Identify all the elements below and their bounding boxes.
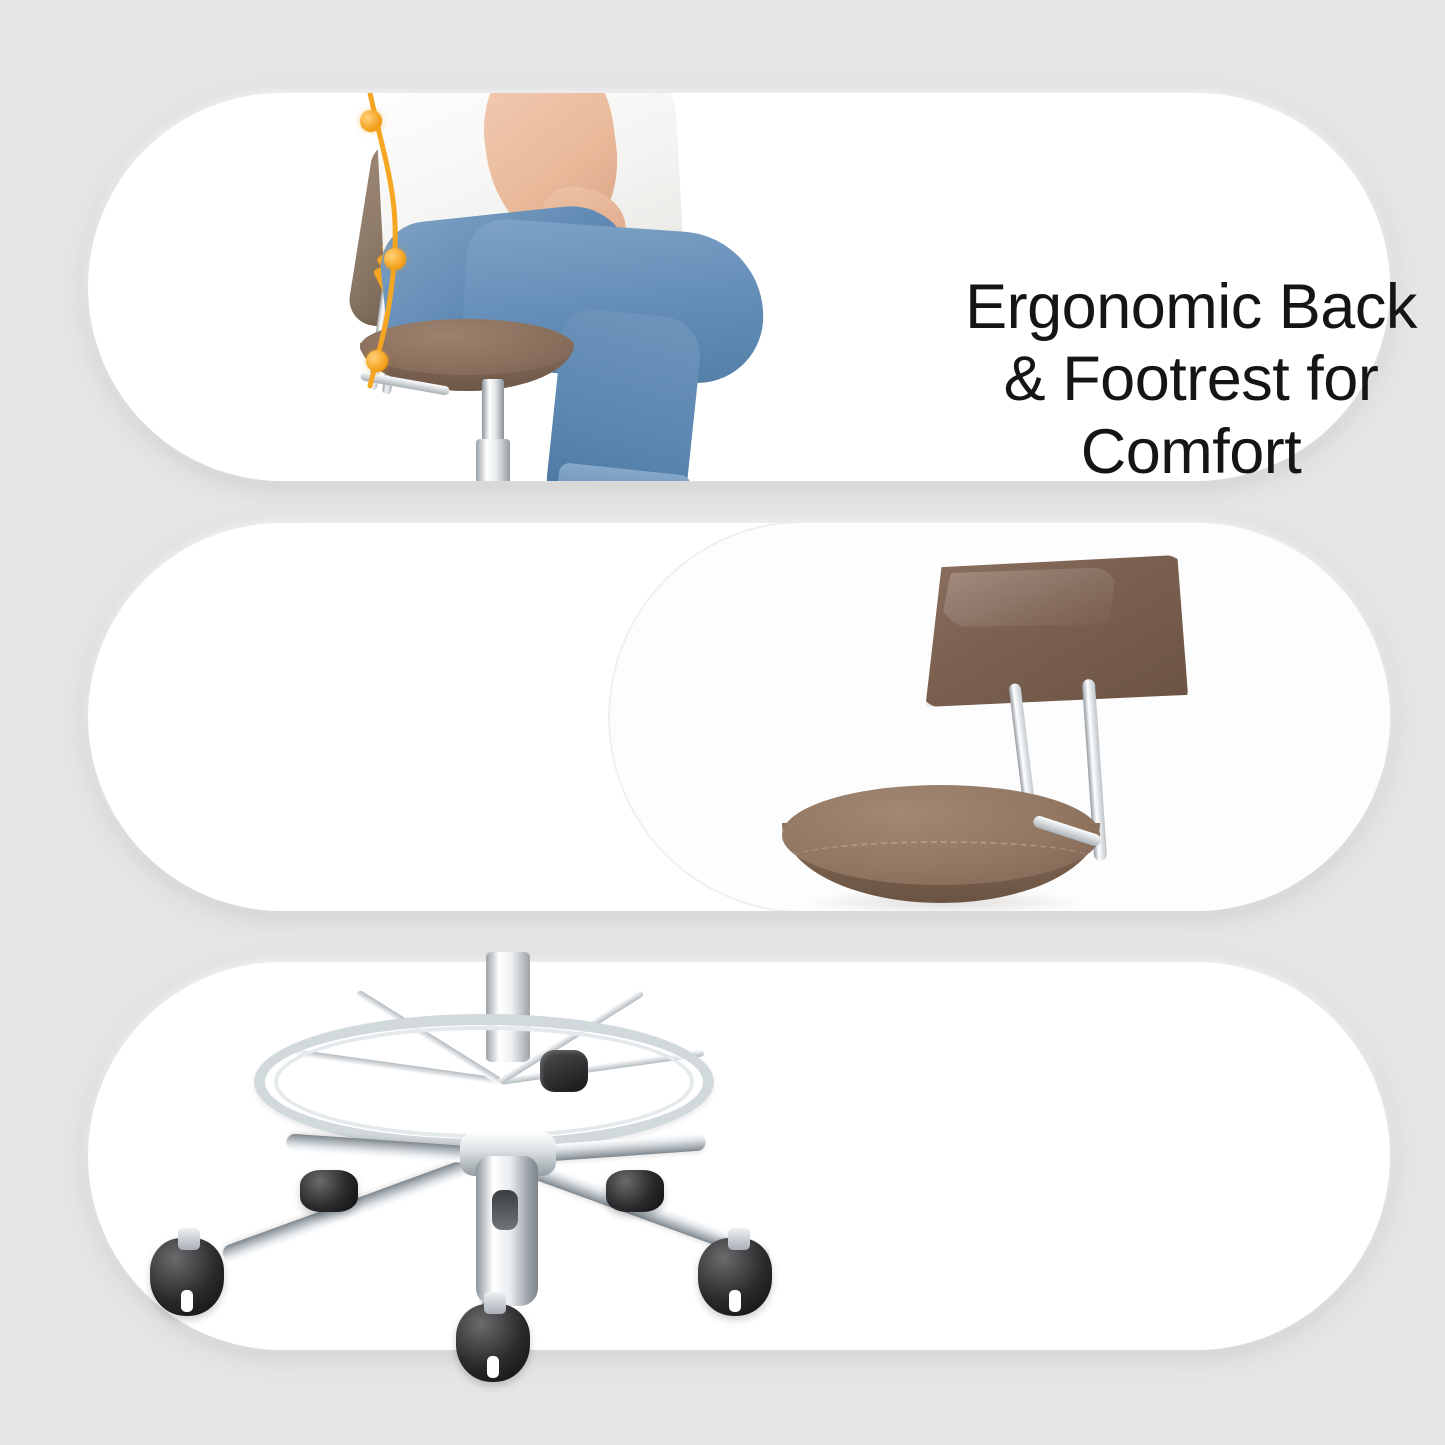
caster-wheel-slot [181, 1290, 193, 1312]
height-adjust-lever [540, 1050, 588, 1092]
caster-wheel [300, 1170, 358, 1212]
caster-wheel [606, 1170, 664, 1212]
panel-1-caption: Ergonomic Back & Footrest for Comfort [926, 271, 1445, 488]
spine-dot [360, 110, 382, 132]
caster-wheel-slot [729, 1290, 741, 1312]
seat-cushion-seam [790, 841, 1092, 877]
image-chrome-five-star-base-with-casters-and-footrest-ring [88, 952, 848, 1382]
spine-alignment-curve [326, 93, 446, 388]
image-stool-seat-and-backrest-product-shot [770, 523, 1390, 911]
image-person-seated-on-stool-with-spine-overlay [88, 93, 868, 481]
base-center-column [476, 1156, 538, 1306]
base-leg [221, 1149, 499, 1264]
backrest-highlight [940, 567, 1120, 627]
panel-2-image-clip [88, 523, 1390, 911]
spine-dot [366, 350, 388, 372]
feature-panel-ergonomic-back-footrest: Ergonomic Back & Footrest for Comfort [88, 93, 1390, 481]
base-center-column-shadow [492, 1190, 518, 1230]
product-feature-collage: Ergonomic Back & Footrest for Comfort Su… [0, 0, 1445, 1445]
spine-curve-icon [326, 93, 446, 388]
spine-dot [384, 248, 406, 270]
person-jeans-calf [544, 306, 704, 481]
caster-wheel [456, 1304, 530, 1382]
feature-panel-supportive-backrest: Supportive Backrest [88, 523, 1390, 911]
caster-stem [728, 1228, 750, 1250]
caster-stem [178, 1228, 200, 1250]
caster-wheel-slot [487, 1356, 499, 1378]
footrest-ring-inner-edge [274, 1026, 694, 1138]
gas-lift-cylinder-lower [476, 439, 510, 481]
caster-stem [484, 1292, 506, 1314]
